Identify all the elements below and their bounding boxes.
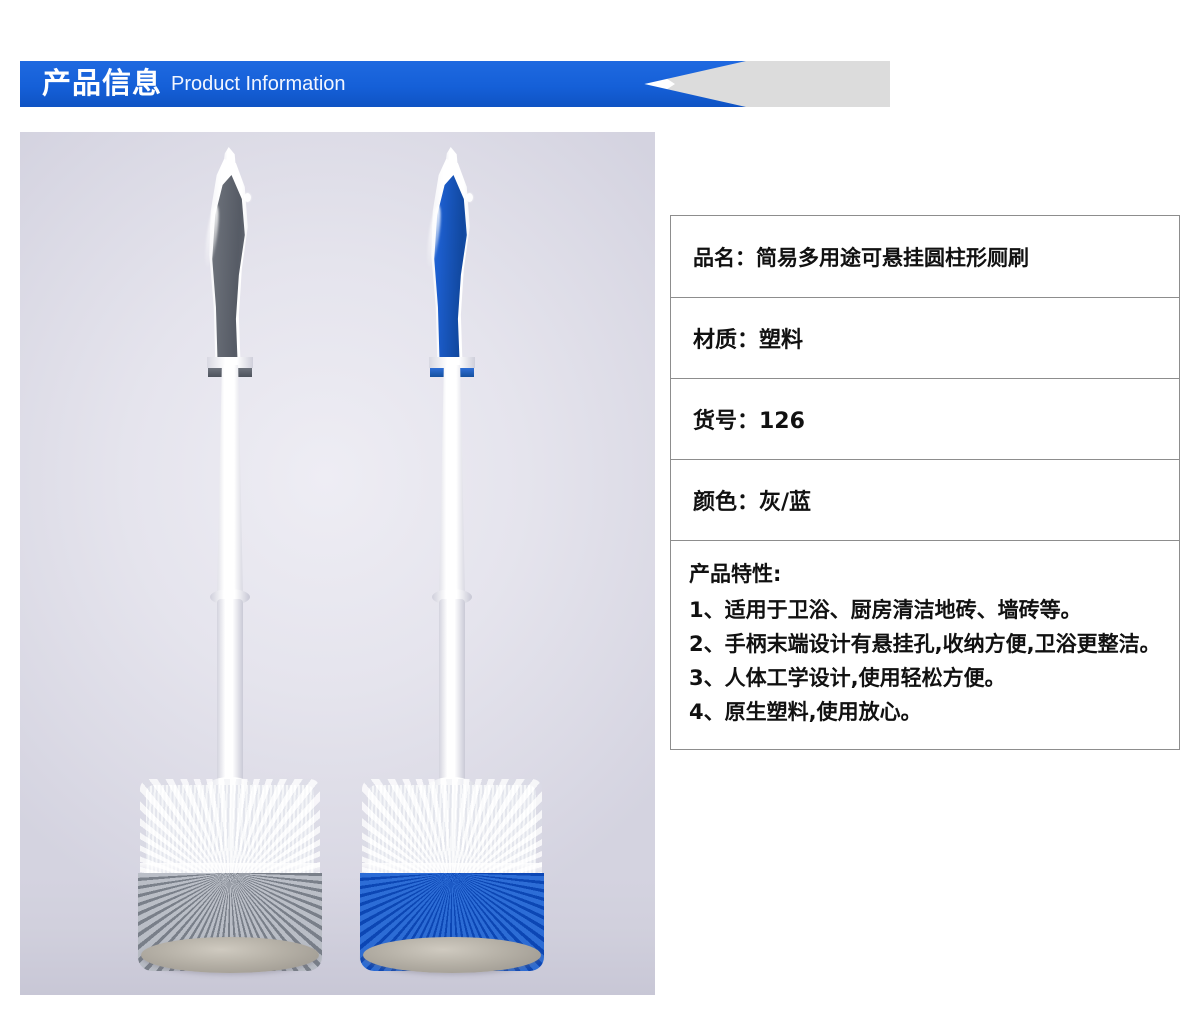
feature-item-2: 2、手柄末端设计有悬挂孔,收纳方便,卫浴更整洁。 — [689, 627, 1161, 661]
hanging-hole-icon — [466, 193, 473, 202]
color-text: 颜色：灰/蓝 — [693, 484, 811, 516]
item-number-text: 货号：126 — [693, 403, 805, 435]
feature-item-1: 1、适用于卫浴、厨房清洁地砖、墙砖等。 — [689, 593, 1161, 627]
gray-brush-handle — [193, 159, 267, 359]
hanging-hole-icon — [244, 193, 251, 202]
table-row-color: 颜色：灰/蓝 — [671, 460, 1179, 541]
page-title-chinese: 产品信息 — [42, 70, 162, 99]
brush-base-disc — [363, 937, 541, 973]
feature-item-4: 4、原生塑料,使用放心。 — [689, 695, 1161, 729]
product-photo — [20, 132, 655, 995]
brush-base-disc — [141, 937, 319, 973]
shaft-upper — [435, 365, 469, 593]
page-header-banner: 产品信息 Product Information — [20, 61, 890, 107]
blue-brush-handle — [415, 159, 489, 359]
handle-rubber-grip — [415, 159, 489, 359]
features-title: 产品特性: — [689, 557, 1161, 591]
banner-blue-bar: 产品信息 Product Information — [20, 61, 746, 107]
handle-rubber-grip — [193, 159, 267, 359]
feature-item-3: 3、人体工学设计,使用轻松方便。 — [689, 661, 1161, 695]
table-row-product-name: 品名：简易多用途可悬挂圆柱形厕刷 — [671, 216, 1179, 298]
table-row-material: 材质：塑料 — [671, 298, 1179, 379]
product-info-table: 品名：简易多用途可悬挂圆柱形厕刷 材质：塑料 货号：126 颜色：灰/蓝 产品特… — [670, 215, 1180, 750]
shaft-lower — [217, 599, 243, 785]
material-text: 材质：塑料 — [693, 322, 803, 354]
page-title-english: Product Information — [171, 74, 346, 94]
shaft-lower — [439, 599, 465, 785]
shaft-upper — [213, 365, 247, 593]
table-row-item-number: 货号：126 — [671, 379, 1179, 460]
product-name-text: 品名：简易多用途可悬挂圆柱形厕刷 — [693, 242, 1029, 272]
gray-toilet-brush — [110, 143, 350, 973]
blue-toilet-brush — [332, 143, 572, 973]
table-row-features: 产品特性: 1、适用于卫浴、厨房清洁地砖、墙砖等。 2、手柄末端设计有悬挂孔,收… — [671, 541, 1179, 750]
